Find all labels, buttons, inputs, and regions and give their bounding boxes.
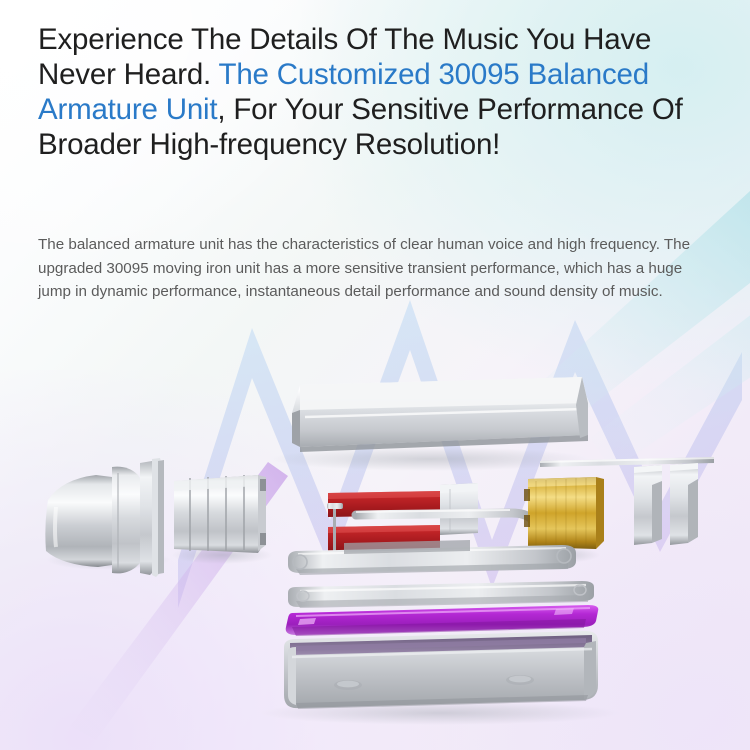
- bottom-housing-tray: [260, 631, 620, 725]
- sound-nozzle: [45, 458, 170, 577]
- headline-line-2: Never Heard.: [38, 58, 211, 91]
- diaphragm-membrane: [286, 605, 599, 636]
- magnet-spacer-block: [440, 483, 478, 535]
- product-illustration: [0, 355, 750, 725]
- terminal-pin-left: [634, 465, 662, 545]
- headline-line-1: Experience The Details Of The Music You …: [38, 23, 651, 56]
- body-paragraph: The balanced armature unit has the chara…: [38, 233, 698, 304]
- page-headline: Experience The Details Of The Music You …: [38, 22, 706, 162]
- top-housing-cover: [270, 377, 590, 471]
- ribbed-cylinder-spacer: [172, 475, 272, 564]
- terminal-pin-right: [670, 463, 698, 545]
- promo-page: Experience The Details Of The Music You …: [0, 0, 750, 750]
- frame-plate: [288, 581, 594, 608]
